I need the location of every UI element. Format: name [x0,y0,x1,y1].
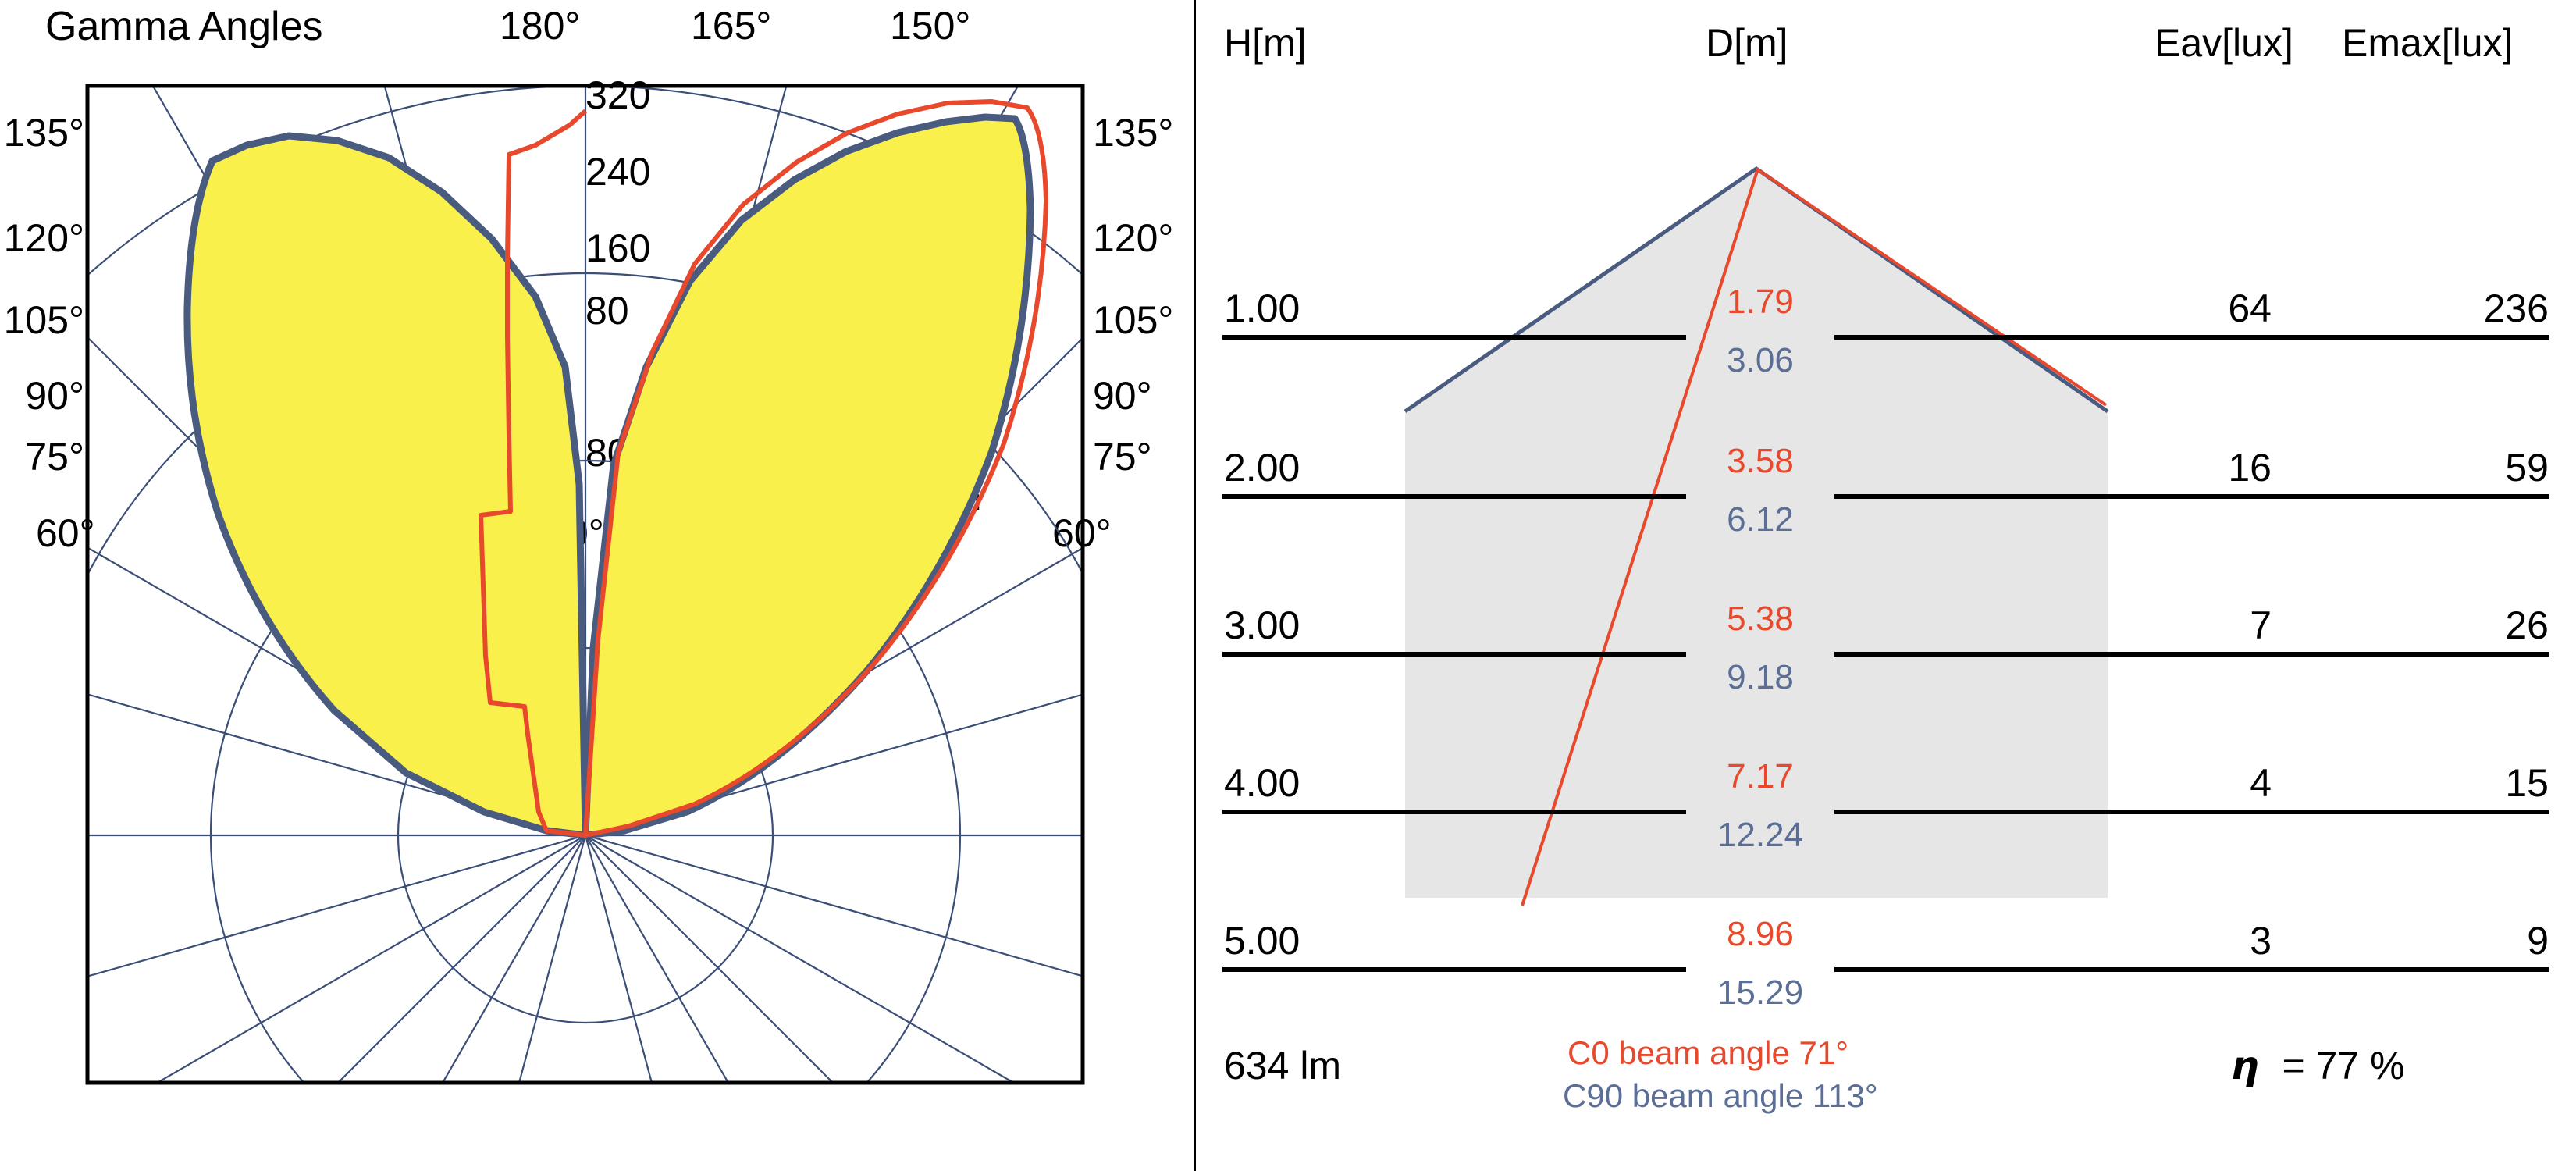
beam-angle-c0-label: C0 beam angle 71° [1567,1037,1848,1070]
row-emax-1: 236 [2287,289,2549,328]
row-d-c0-2: 3.58 [1663,444,1858,479]
row-h-3: 3.00 [1224,606,1300,645]
efficiency-label: η = 77 % [2231,1046,2405,1085]
row-d-c0-3: 5.38 [1663,602,1858,636]
cone-diagram-svg [1194,0,2576,1171]
row-d-c0-5: 8.96 [1663,917,1858,952]
cone-table-panel: H[m] D[m] Eav[lux] Emax[lux] 1.00 1.79 3… [1194,0,2576,1171]
row-eav-1: 64 [2069,289,2272,328]
row-emax-2: 59 [2287,448,2549,487]
row-d-c0-4: 7.17 [1663,760,1858,794]
row-eav-4: 4 [2069,763,2272,803]
row-eav-5: 3 [2069,921,2272,960]
row-d-c90-2: 6.12 [1663,503,1858,537]
row-h-1: 1.00 [1224,289,1300,328]
row-d-c90-4: 12.24 [1663,818,1858,852]
row-eav-2: 16 [2069,448,2272,487]
row-d-c0-1: 1.79 [1663,285,1858,319]
row-h-2: 2.00 [1224,448,1300,487]
eta-value: = 77 % [2282,1044,2405,1087]
eta-symbol: η [2231,1043,2259,1088]
beam-angle-c90-label: C90 beam angle 113° [1563,1080,1878,1112]
luminous-flux-label: 634 lm [1224,1046,1341,1085]
row-h-5: 5.00 [1224,921,1300,960]
row-d-c90-5: 15.29 [1663,976,1858,1010]
row-emax-4: 15 [2287,763,2549,803]
polar-plot-svg [0,0,1194,1171]
row-d-c90-3: 9.18 [1663,660,1858,695]
row-d-c90-1: 3.06 [1663,343,1858,378]
row-h-4: 4.00 [1224,763,1300,803]
row-emax-5: 9 [2287,921,2549,960]
row-emax-3: 26 [2287,606,2549,645]
row-eav-3: 7 [2069,606,2272,645]
polar-diagram-panel: Gamma Angles 180° 165° 150° 135° 120° 10… [0,0,1194,1171]
